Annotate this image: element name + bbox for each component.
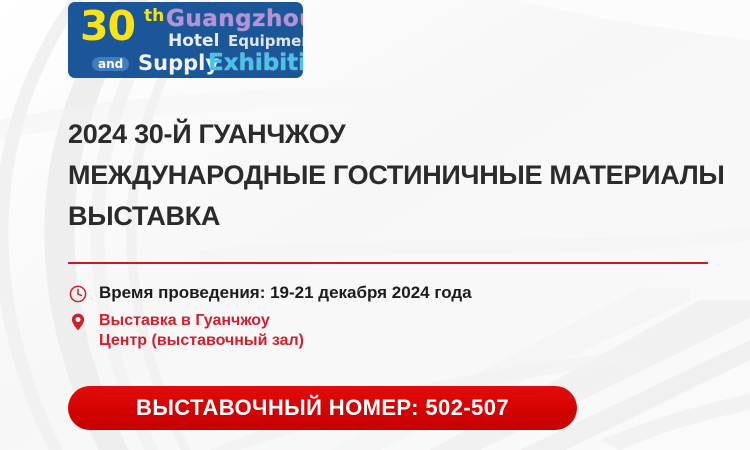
logo-word-exhibition: Exhibition <box>208 52 303 75</box>
clock-icon <box>68 284 88 304</box>
logo-inner: 30 th Guangzhou Hotel Equipment and Supp… <box>68 2 303 78</box>
logo-word-hotel: Hotel <box>168 33 219 50</box>
logo-word-supply: Supply <box>138 53 219 74</box>
logo-city: Guangzhou <box>166 8 303 31</box>
headline-line-3: ВЫСТАВКА <box>68 196 728 237</box>
event-date-text: Время проведения: 19-21 декабря 2024 год… <box>99 283 472 303</box>
venue-text: Выставка в Гуанчжоу Центр (выставочный з… <box>99 311 304 351</box>
headline: 2024 30-Й ГУАНЧЖОУ МЕЖДУНАРОДНЫЕ ГОСТИНИ… <box>68 114 728 237</box>
venue-line-1: Выставка в Гуанчжоу <box>99 311 304 331</box>
booth-number-label: ВЫСТАВОЧНЫЙ НОМЕР: 502-507 <box>136 395 509 421</box>
exhibition-banner: 30 th Guangzhou Hotel Equipment and Supp… <box>0 0 750 450</box>
red-divider <box>68 262 708 264</box>
headline-line-1: 2024 30-Й ГУАНЧЖОУ <box>68 114 728 155</box>
logo-word-equipment: Equipment <box>228 34 303 49</box>
info-row-date: Время проведения: 19-21 декабря 2024 год… <box>68 283 472 304</box>
logo-word-and: and <box>92 57 129 71</box>
logo-edition-ordinal: th <box>144 8 164 25</box>
booth-number-button[interactable]: ВЫСТАВОЧНЫЙ НОМЕР: 502-507 <box>68 386 577 430</box>
info-block: Время проведения: 19-21 декабря 2024 год… <box>68 283 472 358</box>
exhibition-logo[interactable]: 30 th Guangzhou Hotel Equipment and Supp… <box>68 2 303 78</box>
venue-line-2: Центр (выставочный зал) <box>99 331 304 351</box>
location-pin-icon <box>68 312 88 332</box>
logo-edition-number: 30 <box>80 6 135 47</box>
headline-line-2: МЕЖДУНАРОДНЫЕ ГОСТИНИЧНЫЕ МАТЕРИАЛЫ <box>68 155 728 196</box>
info-row-venue: Выставка в Гуанчжоу Центр (выставочный з… <box>68 311 472 351</box>
